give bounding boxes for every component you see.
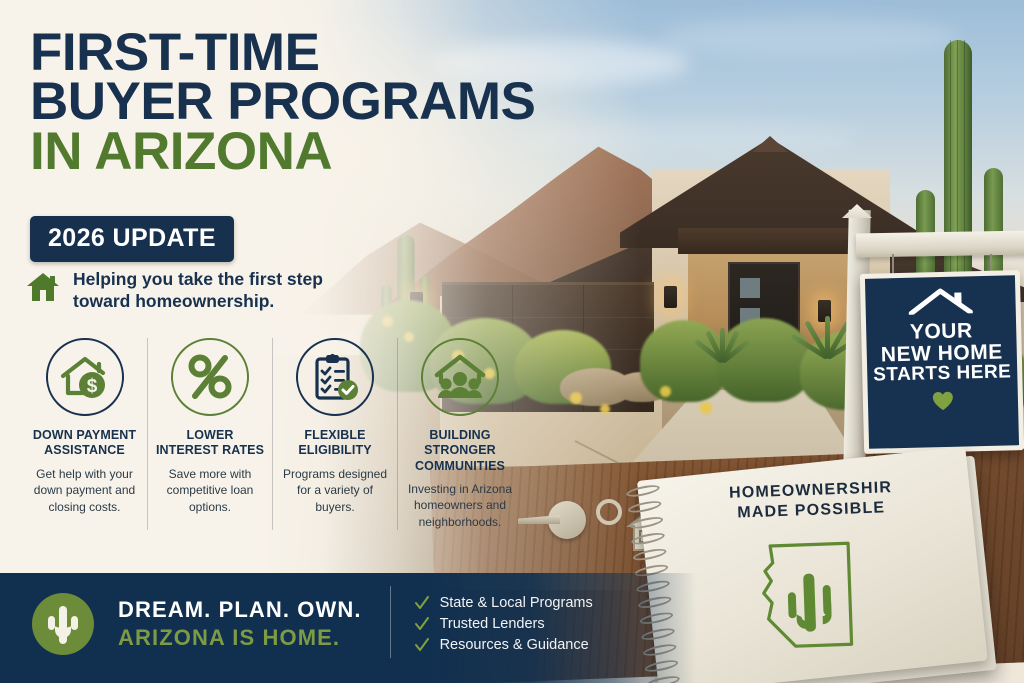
feature-lower-interest-rates: LOWER INTEREST RATES Save more with comp… — [147, 338, 272, 530]
headline-line-3: IN ARIZONA — [30, 127, 630, 176]
cactus-icon — [46, 604, 80, 644]
feature-icon-circle — [171, 338, 249, 416]
headline-line-2: BUYER PROGRAMS — [30, 77, 630, 126]
feature-title: DOWN PAYMENT ASSISTANCE — [29, 428, 140, 459]
feature-description: Programs designed for a variety of buyer… — [280, 466, 390, 516]
banner-checklist: State & Local Programs Trusted Lenders R… — [415, 590, 593, 658]
feature-title: FLEXIBLE ELIGIBILITY — [280, 428, 390, 459]
checklist-item: Resources & Guidance — [415, 637, 593, 653]
svg-text:$: $ — [86, 376, 97, 397]
slogan-line-2: ARIZONA IS HOME. — [118, 624, 362, 652]
checklist-item: State & Local Programs — [415, 595, 593, 611]
checklist-label: Trusted Lenders — [440, 616, 545, 632]
year-update-badge: 2026 UPDATE — [30, 216, 234, 262]
clipboard-checklist-icon — [310, 352, 360, 402]
bottom-banner: DREAM. PLAN. OWN. ARIZONA IS HOME. State… — [0, 573, 1024, 683]
cactus-logo-badge — [32, 593, 94, 655]
house-with-family-icon — [433, 353, 487, 401]
checklist-item: Trusted Lenders — [415, 616, 593, 632]
infographic-poster: YOUR NEW HOME STARTS HERE HOMEOWNERSHIR … — [0, 0, 1024, 683]
feature-icon-circle — [421, 338, 499, 416]
slogan: DREAM. PLAN. OWN. ARIZONA IS HOME. — [118, 596, 362, 651]
checklist-label: State & Local Programs — [440, 595, 593, 611]
check-icon — [415, 617, 429, 631]
percent-icon — [186, 353, 234, 401]
house-with-dollar-coin-icon: $ — [59, 353, 111, 401]
feature-icon-circle — [296, 338, 374, 416]
features-row: $ DOWN PAYMENT ASSISTANCE Get help with … — [22, 338, 522, 530]
check-icon — [415, 638, 429, 652]
feature-down-payment-assistance: $ DOWN PAYMENT ASSISTANCE Get help with … — [22, 338, 147, 530]
feature-title: BUILDING STRONGER COMMUNITIES — [405, 428, 515, 474]
headline-line-1: FIRST-TIME — [30, 28, 630, 77]
check-icon — [415, 596, 429, 610]
checklist-label: Resources & Guidance — [440, 637, 589, 653]
feature-description: Investing in Arizona homeowners and neig… — [405, 481, 515, 531]
feature-icon-circle: $ — [46, 338, 124, 416]
banner-divider — [390, 586, 391, 658]
page-title: FIRST-TIME BUYER PROGRAMS IN ARIZONA — [30, 28, 630, 176]
tagline-text: Helping you take the first step toward h… — [73, 268, 333, 313]
home-icon — [26, 271, 60, 303]
banner-content: DREAM. PLAN. OWN. ARIZONA IS HOME. State… — [32, 590, 593, 658]
slogan-line-1: DREAM. PLAN. OWN. — [118, 596, 362, 624]
tagline-row: Helping you take the first step toward h… — [26, 268, 333, 313]
feature-description: Get help with your down payment and clos… — [29, 466, 140, 516]
feature-flexible-eligibility: FLEXIBLE ELIGIBILITY Programs designed f… — [272, 338, 397, 530]
feature-building-stronger-communities: BUILDING STRONGER COMMUNITIES Investing … — [397, 338, 522, 530]
feature-title: LOWER INTEREST RATES — [155, 428, 265, 459]
feature-description: Save more with competitive loan options. — [155, 466, 265, 516]
